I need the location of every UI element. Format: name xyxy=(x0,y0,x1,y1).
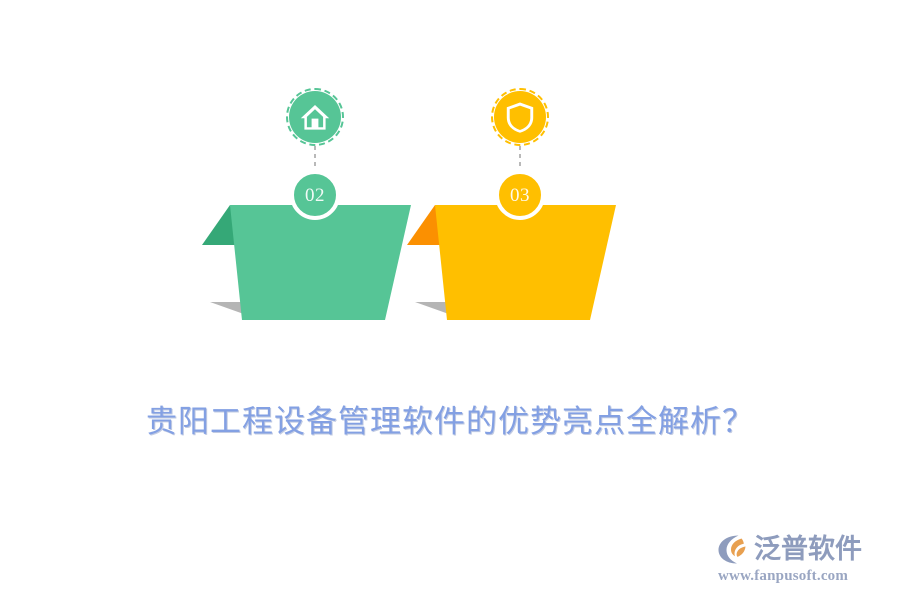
banner-body-02 xyxy=(230,205,411,320)
icon-medallion-02[interactable] xyxy=(286,88,344,146)
step-number-badge-03[interactable]: 03 xyxy=(495,170,545,220)
fanpu-logo-icon xyxy=(716,533,750,565)
step-number-badge-02[interactable]: 02 xyxy=(290,170,340,220)
logo-url: www.fanpusoft.com xyxy=(718,568,848,585)
shield-icon xyxy=(494,91,546,143)
logo-row: 泛普软件 xyxy=(716,532,862,566)
step-number-label: 03 xyxy=(510,186,530,205)
infographic-step-03[interactable]: 03 xyxy=(385,0,645,360)
home-icon xyxy=(289,91,341,143)
icon-medallion-03[interactable] xyxy=(491,88,549,146)
slide-canvas: 02 xyxy=(0,0,900,600)
page-title: 贵阳工程设备管理软件的优势亮点全解析？ xyxy=(0,396,900,441)
step-number-label: 02 xyxy=(305,186,325,205)
logo-name: 泛普软件 xyxy=(754,536,862,563)
infographic-group: 02 xyxy=(0,0,900,360)
brand-logo[interactable]: 泛普软件 www.fanpusoft.com xyxy=(716,532,886,588)
banner-body-03 xyxy=(435,205,616,320)
